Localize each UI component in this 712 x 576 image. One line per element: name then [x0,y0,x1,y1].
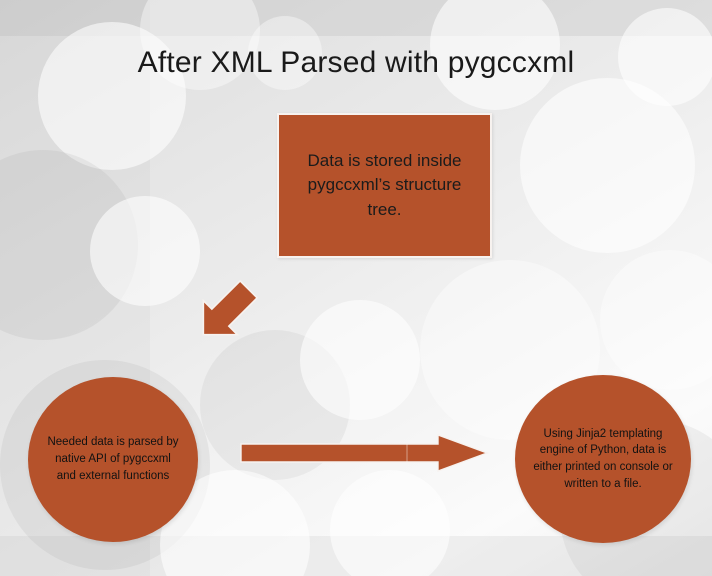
node-label: Using Jinja2 templating engine of Python… [515,426,691,493]
horizontal-arrow-right-icon [238,432,490,474]
node-label: Data is stored inside pygccxml’s structu… [279,149,490,221]
node-label: Needed data is parsed by native API of p… [28,434,198,484]
slide-canvas: After XML Parsed with pygccxml Data is s… [0,0,712,576]
node-jinja2-output[interactable]: Using Jinja2 templating engine of Python… [515,375,691,543]
diagonal-arrow-down-left-icon [176,262,276,362]
node-data-stored[interactable]: Data is stored inside pygccxml’s structu… [277,113,492,258]
node-needed-data-parsed[interactable]: Needed data is parsed by native API of p… [28,377,198,542]
page-title: After XML Parsed with pygccxml [0,46,712,80]
